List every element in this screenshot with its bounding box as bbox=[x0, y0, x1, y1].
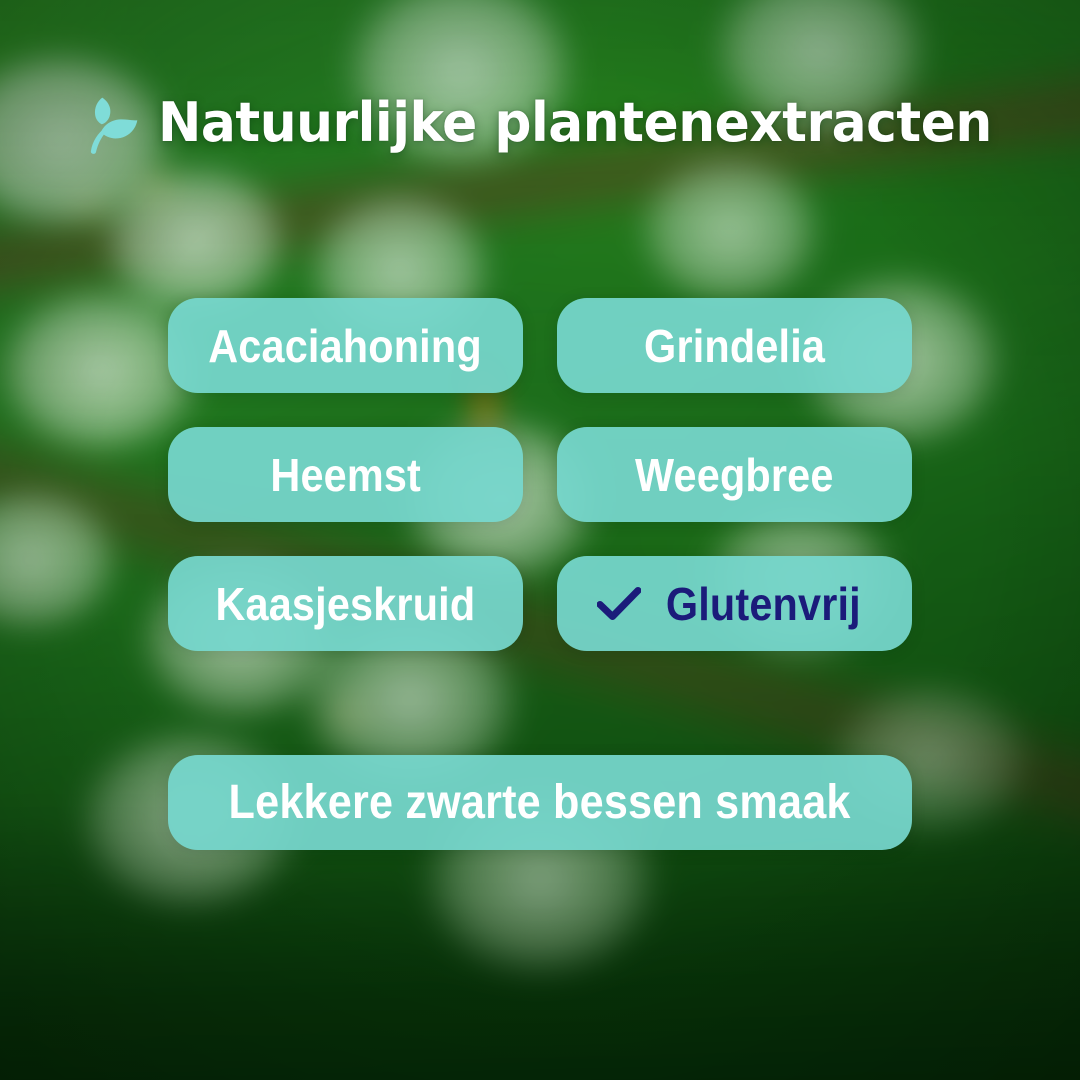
check-icon bbox=[597, 587, 641, 621]
feature-pill-label: Kaasjeskruid bbox=[216, 581, 476, 627]
page-title: Natuurlijke plantenextracten bbox=[158, 95, 992, 152]
feature-pill-acaciahoning[interactable]: Acaciahoning bbox=[168, 298, 523, 393]
feature-pill-weegbree[interactable]: Weegbree bbox=[557, 427, 912, 522]
feature-pill-label: Weegbree bbox=[635, 452, 834, 498]
feature-pill-heemst[interactable]: Heemst bbox=[168, 427, 523, 522]
feature-pill-kaasjeskruid[interactable]: Kaasjeskruid bbox=[168, 556, 523, 651]
poster-canvas: Natuurlijke plantenextracten Acaciahonin… bbox=[0, 0, 1080, 1080]
header: Natuurlijke plantenextracten bbox=[0, 88, 1080, 158]
feature-pill-glutenvrij[interactable]: Glutenvrij bbox=[557, 556, 912, 651]
feature-pill-grindelia[interactable]: Grindelia bbox=[557, 298, 912, 393]
feature-pill-label: Glutenvrij bbox=[666, 581, 861, 627]
feature-pill-label: Grindelia bbox=[644, 323, 825, 369]
flavour-banner-label: Lekkere zwarte bessen smaak bbox=[229, 779, 851, 827]
feature-pill-grid: Acaciahoning Grindelia Heemst Weegbree K… bbox=[168, 298, 912, 651]
leaf-icon bbox=[78, 92, 144, 158]
feature-pill-label: Heemst bbox=[270, 452, 421, 498]
flavour-banner-pill[interactable]: Lekkere zwarte bessen smaak bbox=[168, 755, 912, 850]
feature-pill-label: Acaciahoning bbox=[209, 323, 483, 369]
